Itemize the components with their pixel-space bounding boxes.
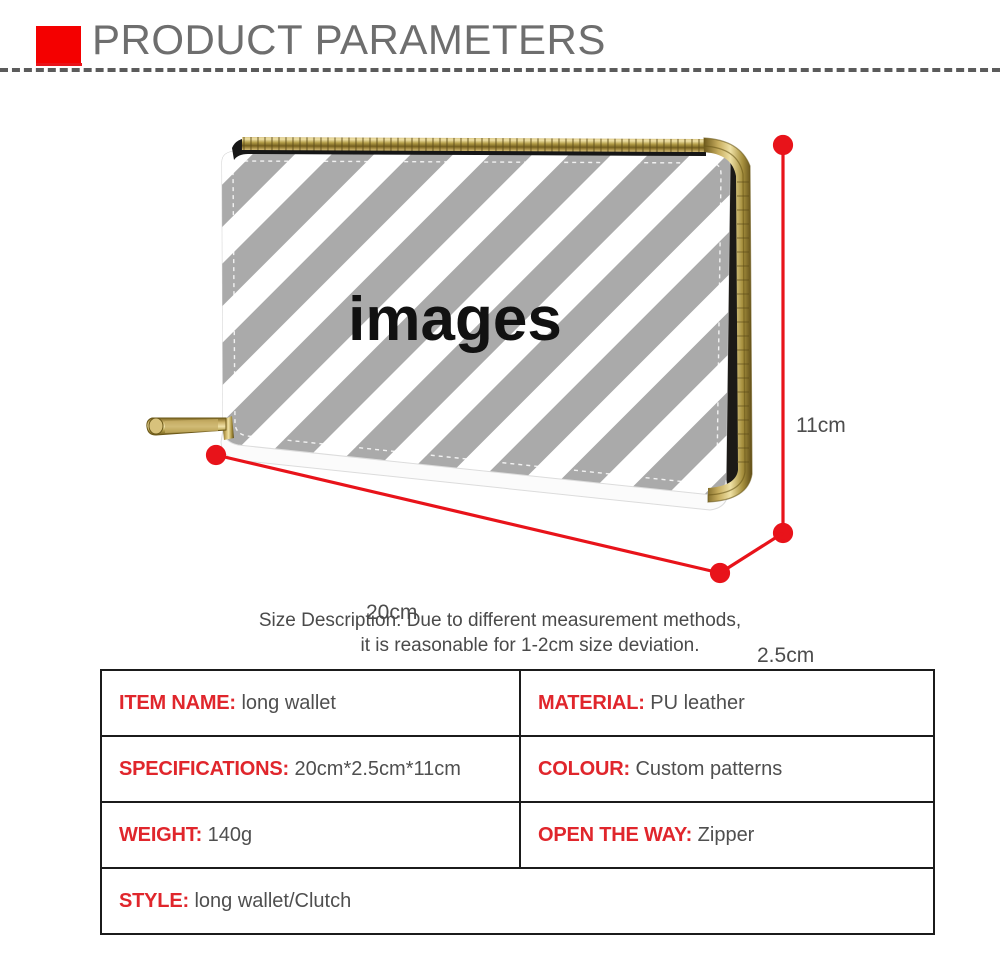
page-header: PRODUCT PARAMETERS <box>0 0 1000 70</box>
dimension-height <box>775 137 792 542</box>
cell-value: 20cm*2.5cm*11cm <box>295 758 461 780</box>
table-row: ITEM NAME: long wallet MATERIAL: PU leat… <box>101 670 934 736</box>
watermark-text: images <box>348 285 562 354</box>
cell-value: long wallet <box>241 692 336 714</box>
red-square-marker-icon <box>36 26 81 64</box>
wallet-diagram: images <box>0 90 1000 600</box>
product-illustration: images 11cm 20cm 2.5cm <box>0 90 1000 600</box>
size-description-line-1: Size Description: Due to different measu… <box>259 610 741 631</box>
header-red-accent-line <box>36 63 82 66</box>
zipper-pull <box>147 416 234 440</box>
cell-value: PU leather <box>650 692 745 714</box>
table-row: STYLE: long wallet/Clutch <box>101 868 934 934</box>
dimension-depth <box>720 533 783 573</box>
table-cell-specifications: SPECIFICATIONS: 20cm*2.5cm*11cm <box>101 736 520 802</box>
cell-key: WEIGHT: <box>119 824 202 846</box>
cell-key: STYLE: <box>119 890 189 912</box>
table-cell-open-the-way: OPEN THE WAY: Zipper <box>520 802 934 868</box>
table-cell-material: MATERIAL: PU leather <box>520 670 934 736</box>
header-dashed-divider <box>0 68 1000 72</box>
size-description-line-2: it is reasonable for 1-2cm size deviatio… <box>0 633 1000 658</box>
table-cell-colour: COLOUR: Custom patterns <box>520 736 934 802</box>
table-cell-style: STYLE: long wallet/Clutch <box>101 868 934 934</box>
zipper-teeth-detail <box>737 182 749 462</box>
cell-key: ITEM NAME: <box>119 692 236 714</box>
table-row: SPECIFICATIONS: 20cm*2.5cm*11cm COLOUR: … <box>101 736 934 802</box>
specifications-table: ITEM NAME: long wallet MATERIAL: PU leat… <box>100 669 935 935</box>
zipper-teeth-top <box>242 137 704 152</box>
table-cell-item-name: ITEM NAME: long wallet <box>101 670 520 736</box>
cell-key: COLOUR: <box>538 758 630 780</box>
cell-key: OPEN THE WAY: <box>538 824 692 846</box>
table-cell-weight: WEIGHT: 140g <box>101 802 520 868</box>
dimension-label-height: 11cm <box>796 414 846 438</box>
cell-value: Custom patterns <box>635 758 782 780</box>
cell-value: long wallet/Clutch <box>194 890 351 912</box>
cell-key: MATERIAL: <box>538 692 645 714</box>
table-row: WEIGHT: 140g OPEN THE WAY: Zipper <box>101 802 934 868</box>
cell-value: 140g <box>208 824 253 846</box>
size-description: Size Description: Due to different measu… <box>0 608 1000 658</box>
cell-key: SPECIFICATIONS: <box>119 758 289 780</box>
page-title: PRODUCT PARAMETERS <box>92 16 606 64</box>
cell-value: Zipper <box>698 824 755 846</box>
